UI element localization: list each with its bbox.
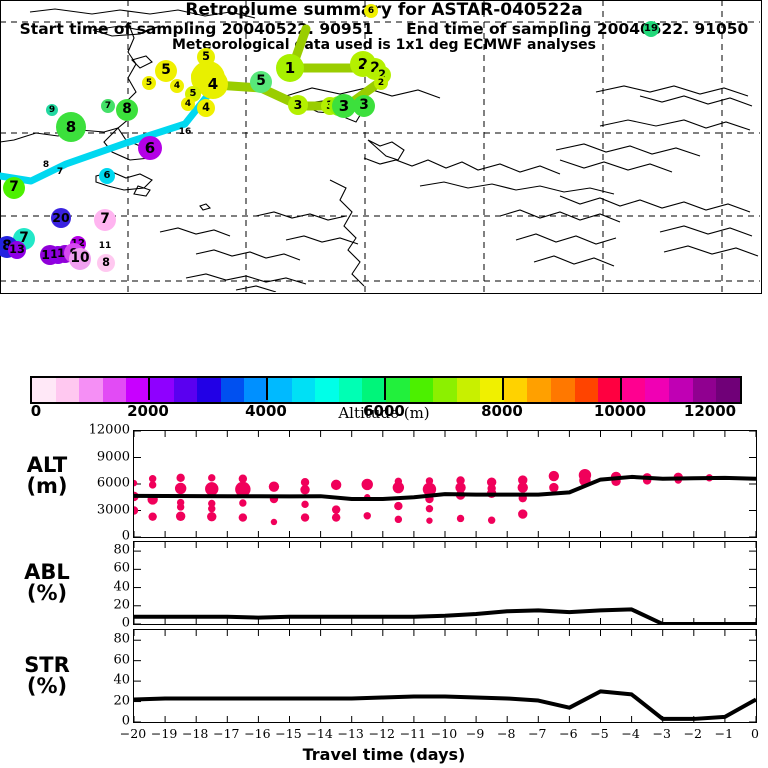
colorbar-separator	[148, 376, 150, 400]
colorbar-separator	[620, 376, 622, 400]
colorbar-swatch	[244, 378, 268, 402]
colorbar-swatch	[126, 378, 150, 402]
colorbar-swatch	[315, 378, 339, 402]
x-tick-label: −9	[466, 726, 484, 741]
str-row-label: STR (%)	[8, 655, 86, 698]
alt-y-tick: 6000	[97, 476, 130, 491]
colorbar-swatch	[339, 378, 363, 402]
map-marker: 4	[198, 69, 228, 99]
colorbar-swatch	[504, 378, 528, 402]
abl-label-line1: ABL	[8, 562, 86, 583]
str-y-tick: 20	[113, 693, 130, 708]
str-label-line1: STR	[8, 655, 86, 676]
alt-row-label: ALT (m)	[8, 455, 86, 498]
colorbar-swatch	[693, 378, 717, 402]
map-marker: 19	[643, 21, 659, 37]
colorbar-swatch	[645, 378, 669, 402]
alt-label-line2: (m)	[8, 476, 86, 497]
x-tick-label: −19	[151, 726, 177, 741]
x-tick-label: −13	[337, 726, 363, 741]
map-marker: 5	[142, 76, 156, 90]
colorbar-swatch	[457, 378, 481, 402]
x-tick-label: −14	[306, 726, 332, 741]
colorbar-swatch	[480, 378, 504, 402]
colorbar-swatch	[103, 378, 127, 402]
x-tick-label: −12	[369, 726, 395, 741]
map-marker: 8	[116, 99, 138, 121]
map-marker: 7	[94, 209, 116, 231]
x-tick-label: −3	[652, 726, 670, 741]
colorbar-swatch	[716, 378, 740, 402]
map-marker: 6	[99, 168, 115, 184]
x-tick-label: −6	[559, 726, 577, 741]
str-y-tick: 40	[113, 673, 130, 688]
alt-y-tick: 9000	[97, 449, 130, 464]
abl-y-tick: 60	[113, 561, 130, 576]
str-plot-area	[134, 630, 756, 722]
x-tick-label: −1	[715, 726, 733, 741]
x-axis-title: Travel time (days)	[0, 745, 768, 764]
alt-y-tick: 0	[122, 529, 130, 544]
map-marker: 5	[250, 71, 272, 93]
x-tick-label: −10	[431, 726, 457, 741]
colorbar-swatch	[292, 378, 316, 402]
alt-label-line1: ALT	[8, 455, 86, 476]
map-marker: 3	[353, 95, 375, 117]
map-marker: 9	[46, 104, 58, 116]
map-marker: 20	[51, 208, 71, 228]
colorbar-swatch	[575, 378, 599, 402]
altitude-colorbar[interactable]	[30, 376, 742, 404]
colorbar-swatch	[268, 378, 292, 402]
alt-mean-line	[134, 477, 756, 499]
colorbar-swatch	[386, 378, 410, 402]
colorbar-swatch	[32, 378, 56, 402]
str-y-tick: 60	[113, 652, 130, 667]
str-panel[interactable]	[133, 629, 757, 723]
colorbar-swatch	[669, 378, 693, 402]
map-marker: 10	[69, 248, 91, 270]
map-marker: 8	[97, 254, 115, 272]
abl-y-tick: 20	[113, 597, 130, 612]
alt-y-tick: 3000	[97, 502, 130, 517]
map-marker: 7	[54, 166, 66, 178]
colorbar-swatch	[174, 378, 198, 402]
colorbar-swatch	[150, 378, 174, 402]
colorbar-swatch	[221, 378, 245, 402]
x-tick-label: −20	[120, 726, 146, 741]
abl-y-tick: 0	[122, 616, 130, 631]
alt-y-tick: 12000	[89, 423, 130, 438]
colorbar-swatch	[79, 378, 103, 402]
map-marker: 1	[276, 54, 304, 82]
map-marker: 13	[8, 241, 26, 259]
colorbar-swatch	[56, 378, 80, 402]
alt-plot-area	[134, 431, 756, 537]
colorbar-swatch	[433, 378, 457, 402]
abl-y-tick: 80	[113, 543, 130, 558]
x-tick-label: −2	[684, 726, 702, 741]
map-marker: 2	[374, 76, 388, 90]
str-y-tick: 80	[113, 632, 130, 647]
colorbar-swatch	[598, 378, 622, 402]
x-tick-label: −4	[621, 726, 639, 741]
colorbar-swatch	[551, 378, 575, 402]
retroplume-trajectory-map[interactable]: 6191222255565445445333339788687761620778…	[0, 0, 762, 294]
map-marker: 6	[138, 136, 162, 160]
colorbar-swatch	[362, 378, 386, 402]
x-tick-label: 0	[751, 726, 759, 741]
colorbar-swatch	[410, 378, 434, 402]
x-tick-label: −8	[497, 726, 515, 741]
colorbar-swatch	[622, 378, 646, 402]
map-marker: 6	[364, 4, 378, 18]
x-tick-label: −17	[213, 726, 239, 741]
colorbar-separator	[502, 376, 504, 400]
colorbar-swatch	[527, 378, 551, 402]
abl-panel[interactable]	[133, 541, 757, 625]
map-marker: 8	[56, 112, 86, 142]
map-marker: 11	[99, 240, 111, 252]
colorbar-separator	[384, 376, 386, 400]
map-basemap	[0, 0, 760, 292]
map-marker: 7	[3, 177, 25, 199]
x-tick-label: −16	[244, 726, 270, 741]
map-marker: 7	[101, 99, 115, 113]
alt-panel[interactable]	[133, 430, 757, 538]
abl-row-label: ABL (%)	[8, 562, 86, 605]
colorbar-swatch	[197, 378, 221, 402]
map-marker: 8	[40, 159, 52, 171]
map-marker: 3	[288, 95, 308, 115]
map-marker: 4	[197, 99, 215, 117]
colorbar-separator	[266, 376, 268, 400]
x-tick-label: −11	[400, 726, 426, 741]
abl-y-tick: 40	[113, 579, 130, 594]
colorbar-axis-label: Altitude (m)	[0, 404, 768, 422]
str-label-line2: (%)	[8, 676, 86, 697]
map-marker: 4	[170, 79, 184, 93]
x-tick-label: −18	[182, 726, 208, 741]
abl-label-line2: (%)	[8, 583, 86, 604]
x-tick-label: −5	[590, 726, 608, 741]
map-marker: 4	[181, 97, 195, 111]
str-line	[134, 691, 756, 719]
x-tick-label: −15	[275, 726, 301, 741]
map-marker: 16	[179, 126, 191, 138]
x-tick-label: −7	[528, 726, 546, 741]
abl-plot-area	[134, 542, 756, 624]
